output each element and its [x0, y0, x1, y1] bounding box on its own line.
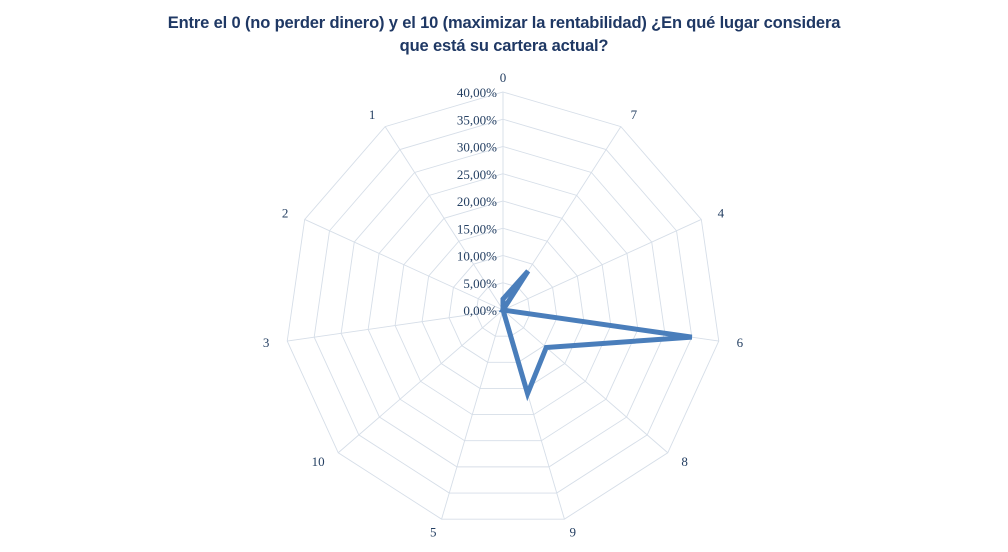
- category-label-1: 1: [369, 107, 376, 122]
- category-label-2: 2: [282, 206, 289, 221]
- category-label-9: 9: [569, 525, 576, 540]
- category-label-5: 5: [430, 525, 437, 540]
- category-label-4: 4: [718, 206, 725, 221]
- radar-chart-container: Entre el 0 (no perder dinero) y el 10 (m…: [0, 0, 1008, 552]
- radar-series-group: [503, 271, 692, 394]
- radial-axis-labels: 0,00%5,00%10,00%15,00%20,00%25,00%30,00%…: [457, 85, 497, 318]
- radial-tick-label-0: 0,00%: [463, 303, 497, 318]
- radial-tick-label-5: 5,00%: [463, 276, 497, 291]
- radial-tick-label-15: 15,00%: [457, 221, 497, 236]
- radial-tick-label-25: 25,00%: [457, 167, 497, 182]
- category-label-3: 3: [263, 335, 270, 350]
- category-label-6: 6: [737, 335, 744, 350]
- radar-plot-area: 0,00%5,00%10,00%15,00%20,00%25,00%30,00%…: [0, 0, 1008, 552]
- category-label-10: 10: [312, 454, 325, 469]
- category-label-8: 8: [681, 454, 688, 469]
- radial-tick-label-10: 10,00%: [457, 249, 497, 264]
- radial-tick-label-30: 30,00%: [457, 140, 497, 155]
- category-label-0: 0: [500, 70, 507, 85]
- category-label-7: 7: [631, 107, 638, 122]
- series-polygon-porcentaje[interactable]: [503, 271, 692, 394]
- radial-tick-label-40: 40,00%: [457, 85, 497, 100]
- radial-tick-label-20: 20,00%: [457, 194, 497, 209]
- radial-tick-label-35: 35,00%: [457, 112, 497, 127]
